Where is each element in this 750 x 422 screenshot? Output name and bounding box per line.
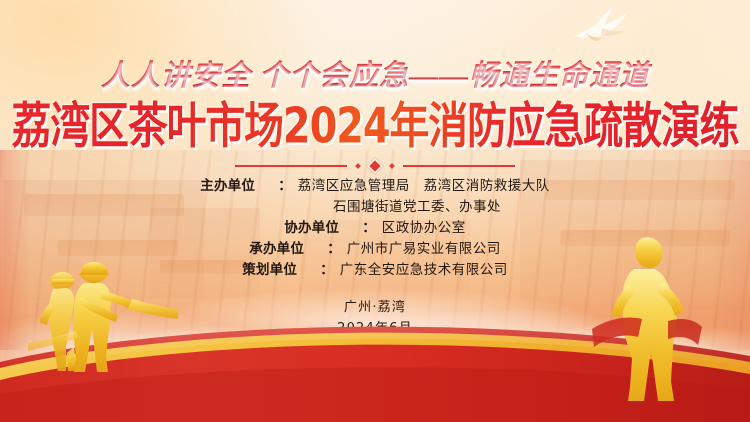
credit-value: 广州市广易实业有限公司 [347,239,501,260]
credit-colon: ： [327,239,341,260]
credit-colon: ： [320,260,334,281]
poster-slogan: 人人讲安全 个个会应急——畅通生命通道 [0,52,750,94]
credit-value: 荔湾区应急管理局 荔湾区消防救援大队 [298,176,550,197]
poster-canvas: 人人讲安全 个个会应急——畅通生命通道 荔湾区茶叶市场2024年消防应急疏散演练… [0,0,750,422]
credit-label: 协办单位 [284,218,362,239]
dove-icon [568,6,632,51]
credit-label: 主办单位 [200,176,278,197]
credit-label: 承办单位 [249,239,327,260]
credit-value-continuation: 石围塘街道党工委、办事处 [333,197,501,218]
credit-value: 区政协办公室 [382,218,466,239]
credit-colon: ： [278,176,292,197]
divider-line-right [403,165,515,167]
firefighter-silhouette-icon [28,259,178,374]
divider-dot-right [389,163,395,169]
divider-ornament [0,160,750,172]
credit-value: 广东全安应急技术有限公司 [340,260,508,281]
credit-row: 承办单位 ： 广州市广易实业有限公司 [249,239,501,260]
divider-line-left [235,165,347,167]
diamond-ornament-icon [367,158,384,175]
credit-row: 主办单位 ： 荔湾区应急管理局 荔湾区消防救援大队 [200,176,550,197]
credit-row: 策划单位 ： 广东全安应急技术有限公司 [242,260,508,281]
credit-row: 协办单位 ： 区政协办公室 [284,218,466,239]
edge-tint-right [710,150,750,350]
credit-label: 策划单位 [242,260,320,281]
divider-dot-left [355,163,361,169]
running-person-silhouette-icon [592,237,702,402]
credit-colon: ： [362,218,376,239]
poster-title: 荔湾区茶叶市场2024年消防应急疏散演练 [0,100,750,156]
edge-tint-left [0,150,30,350]
